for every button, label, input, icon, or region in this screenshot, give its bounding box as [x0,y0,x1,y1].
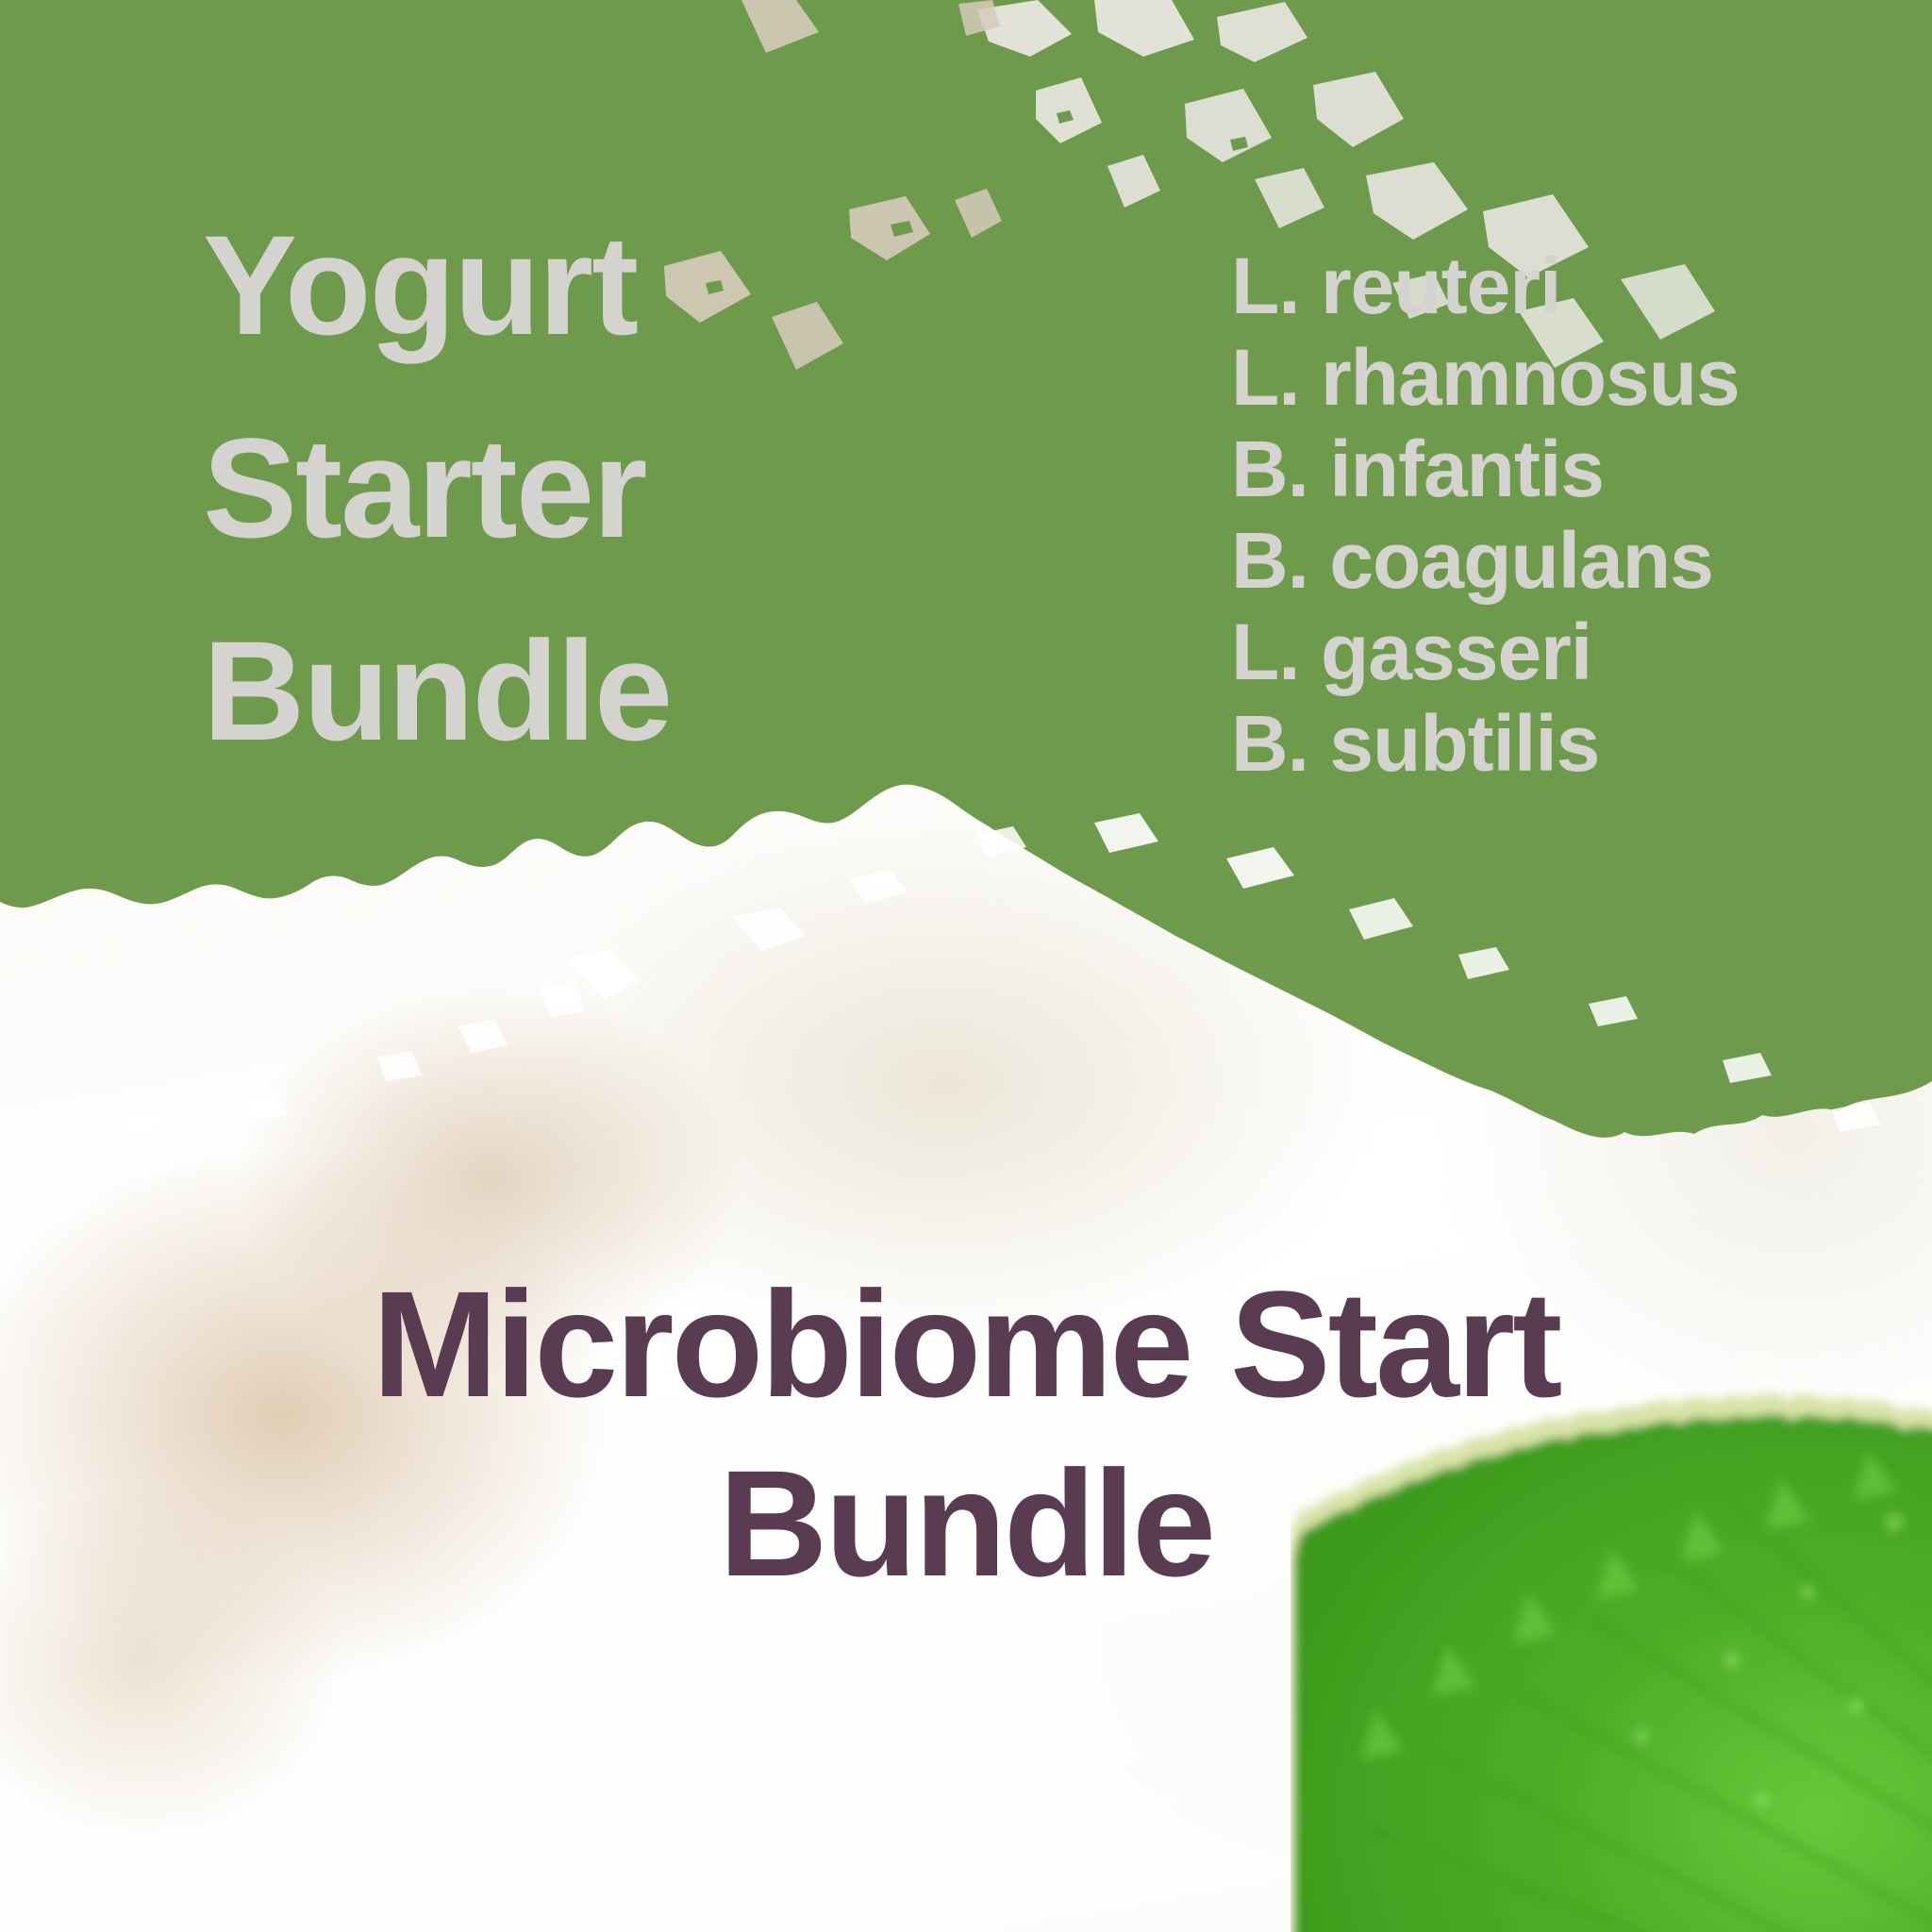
product-title: Yogurt Starter Bundle [203,184,863,792]
product-poster: Yogurt Starter Bundle L. reuteri L. rham… [0,0,1932,1932]
strain-list: L. reuteri L. rhamnosus B. infantis B. c… [1231,241,1740,790]
product-title-line-3: Bundle [203,590,863,792]
bundle-name: Microbiome Start Bundle [0,1255,1932,1613]
strain-item: B. coagulans [1231,515,1740,607]
strain-item: L. reuteri [1231,241,1740,332]
text-layer: Yogurt Starter Bundle L. reuteri L. rham… [0,0,1932,1932]
bundle-name-line-1: Microbiome Start [0,1255,1932,1434]
strain-item: B. subtilis [1231,698,1740,790]
strain-item: L. gasseri [1231,607,1740,698]
strain-item: B. infantis [1231,424,1740,515]
product-title-line-2: Starter [203,387,863,590]
bundle-name-line-2: Bundle [0,1434,1932,1613]
strain-item: L. rhamnosus [1231,332,1740,424]
product-title-line-1: Yogurt [203,184,863,387]
